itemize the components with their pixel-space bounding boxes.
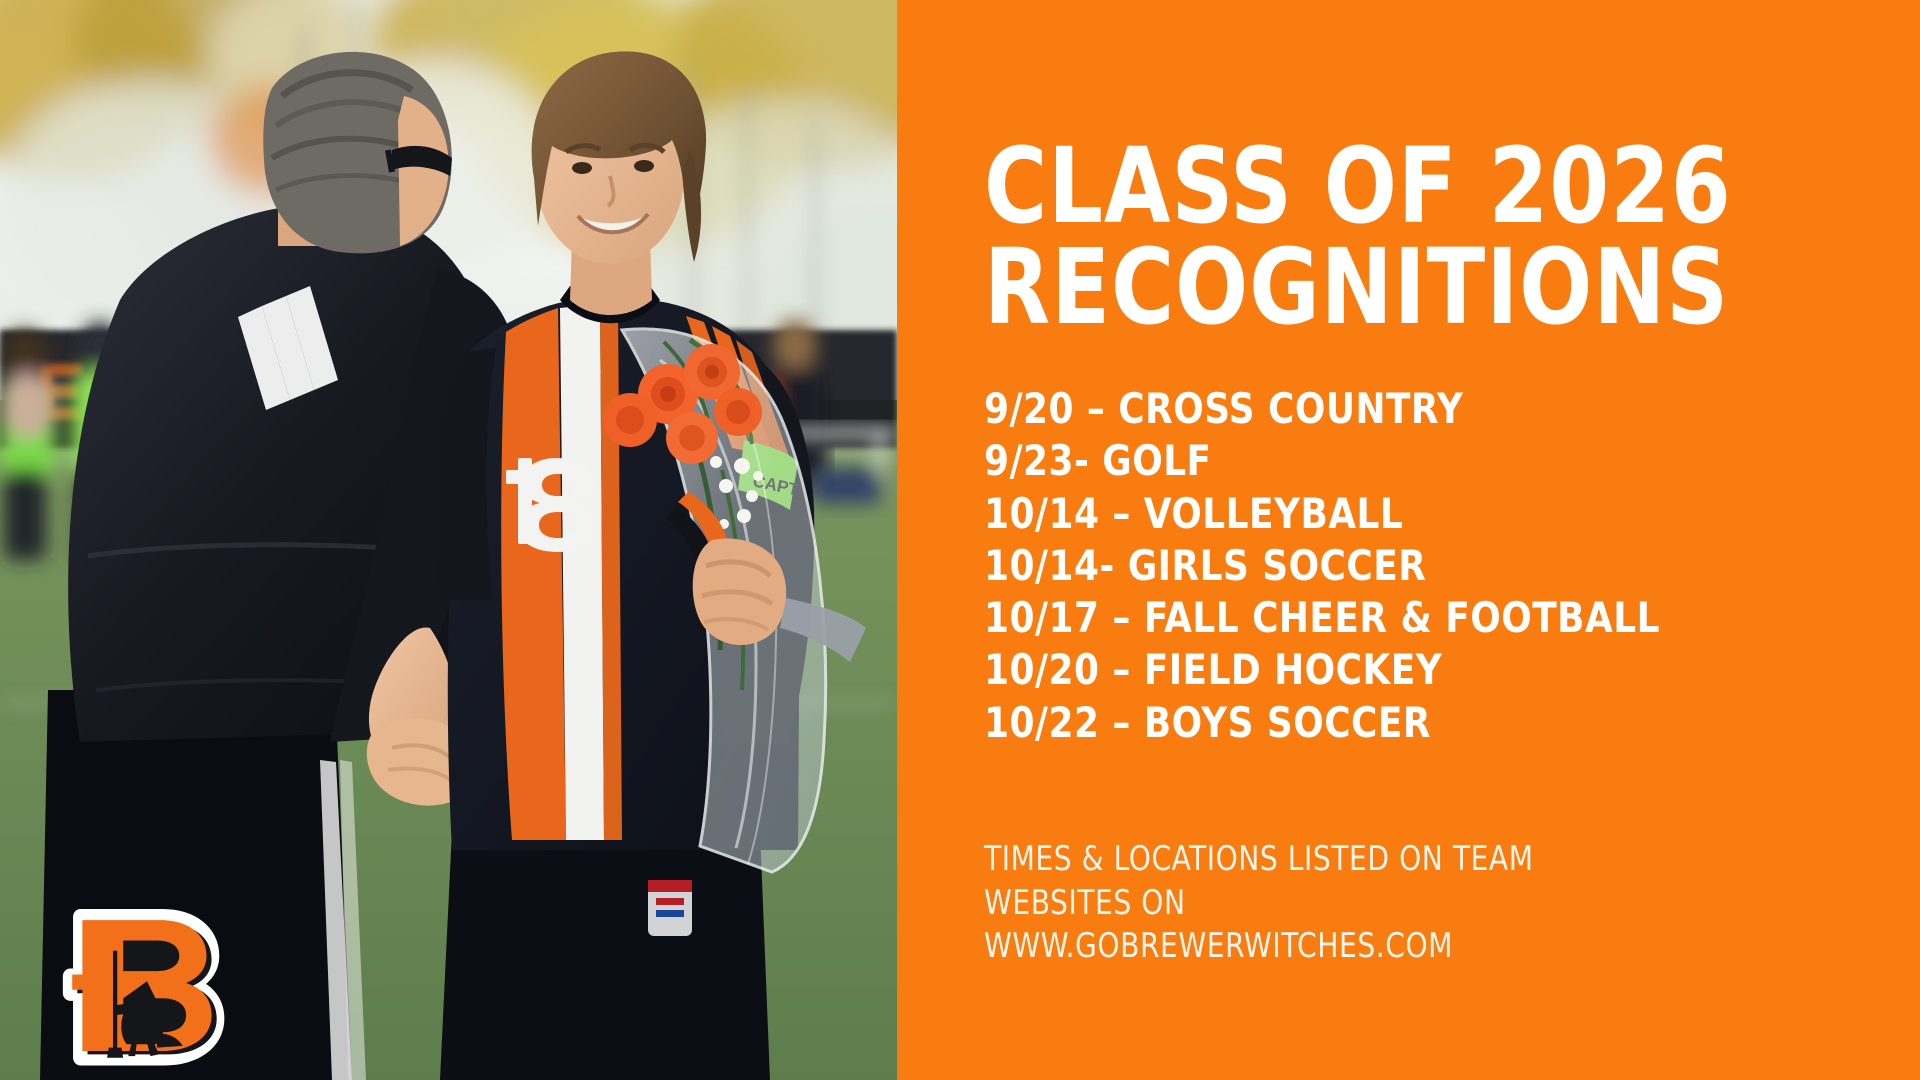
event-item: 9/23- GOLF: [984, 435, 1864, 487]
logo-svg: [62, 898, 232, 1068]
footnote-block: TIMES & LOCATIONS LISTED ON TEAM WEBSITE…: [984, 838, 1910, 969]
poster-canvas: OF E: [0, 0, 1920, 1080]
event-item: 9/20 – CROSS COUNTRY: [984, 383, 1864, 435]
website-url: WWW.GOBREWERWITCHES.COM: [984, 925, 1836, 969]
info-panel: CLASS OF 2026 RECOGNITIONS 9/20 – CROSS …: [897, 0, 1920, 1080]
brewer-b-logo: [62, 898, 232, 1068]
event-item: 10/22 – BOYS SOCCER: [984, 697, 1864, 749]
headline-block: CLASS OF 2026 RECOGNITIONS: [984, 136, 1910, 338]
event-item: 10/17 – FALL CHEER & FOOTBALL: [984, 592, 1864, 644]
event-item: 10/14- GIRLS SOCCER: [984, 540, 1864, 592]
headline-line-2: RECOGNITIONS: [984, 237, 1836, 338]
event-item: 10/14 – VOLLEYBALL: [984, 488, 1864, 540]
footnote-line-2: WEBSITES ON: [984, 882, 1836, 926]
recognition-event-list: 9/20 – CROSS COUNTRY 9/23- GOLF 10/14 – …: [984, 383, 1910, 749]
footnote-line-1: TIMES & LOCATIONS LISTED ON TEAM: [984, 838, 1836, 882]
shorts-crest: [648, 880, 692, 936]
headline-line-1: CLASS OF 2026: [984, 136, 1836, 237]
event-item: 10/20 – FIELD HOCKEY: [984, 644, 1864, 696]
photo-region: OF E: [0, 0, 897, 1080]
